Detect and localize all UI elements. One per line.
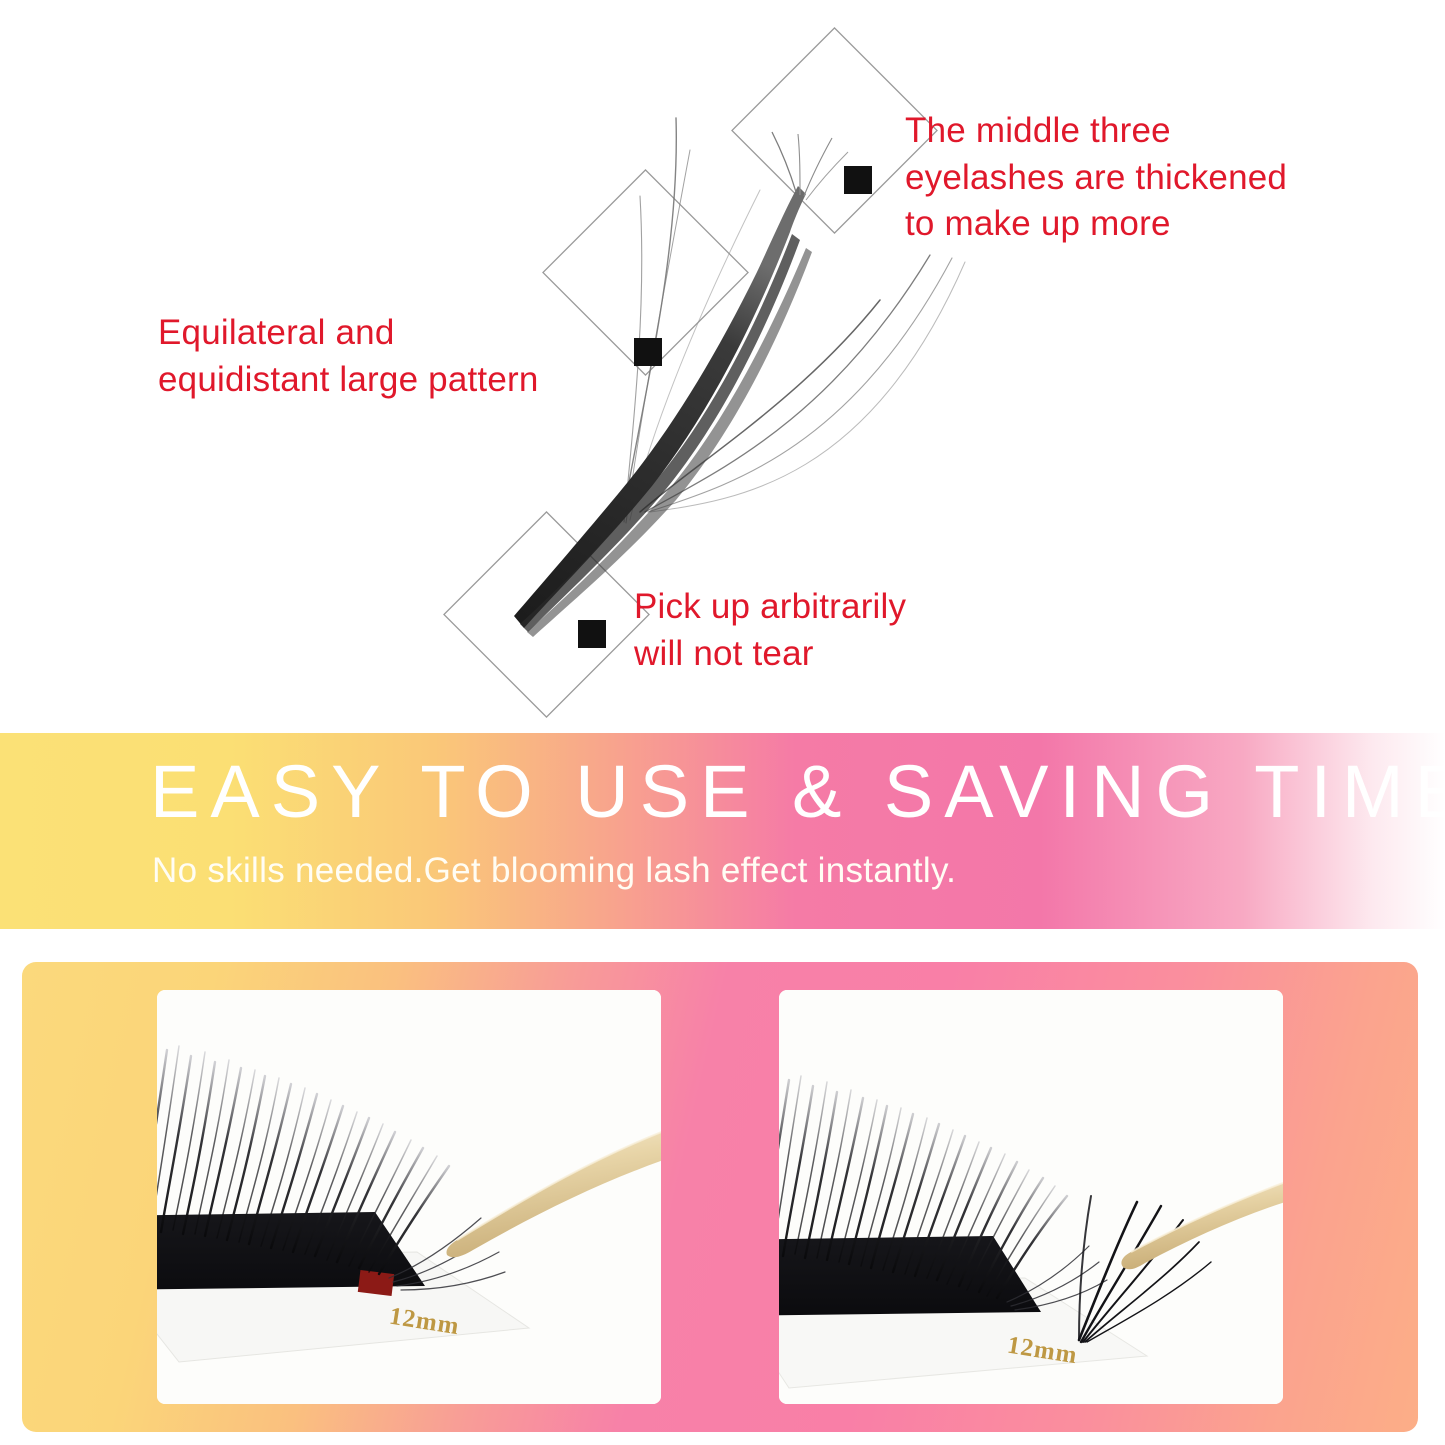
marker-square-bottom (578, 620, 606, 648)
marker-square-top (844, 166, 872, 194)
banner-subheadline: No skills needed.Get blooming lash effec… (152, 853, 956, 888)
marker-square-group (578, 166, 872, 648)
callout-no-tear: Pick up arbitrarily will not tear (634, 584, 1054, 677)
lash-thick-stem-a (514, 186, 806, 628)
feature-diagram-section: The middle three eyelashes are thickened… (0, 0, 1445, 730)
promo-banner: EASY TO USE & SAVING TIME No skills need… (0, 733, 1445, 929)
lash-tray-tweezer-photo (157, 990, 661, 1404)
photo-card-lash-tray-tweezer: 12mm (157, 990, 661, 1404)
callout-pattern: Equilateral and equidistant large patter… (158, 310, 628, 403)
red-tab (358, 1270, 394, 1296)
photo-card-lash-fan-pickup: 12mm (779, 990, 1283, 1404)
banner-headline: EASY TO USE & SAVING TIME (150, 755, 1445, 829)
product-photo-panel: 12mm (22, 962, 1418, 1432)
callout-thickened: The middle three eyelashes are thickened… (905, 108, 1375, 248)
marker-square-middle (634, 338, 662, 366)
